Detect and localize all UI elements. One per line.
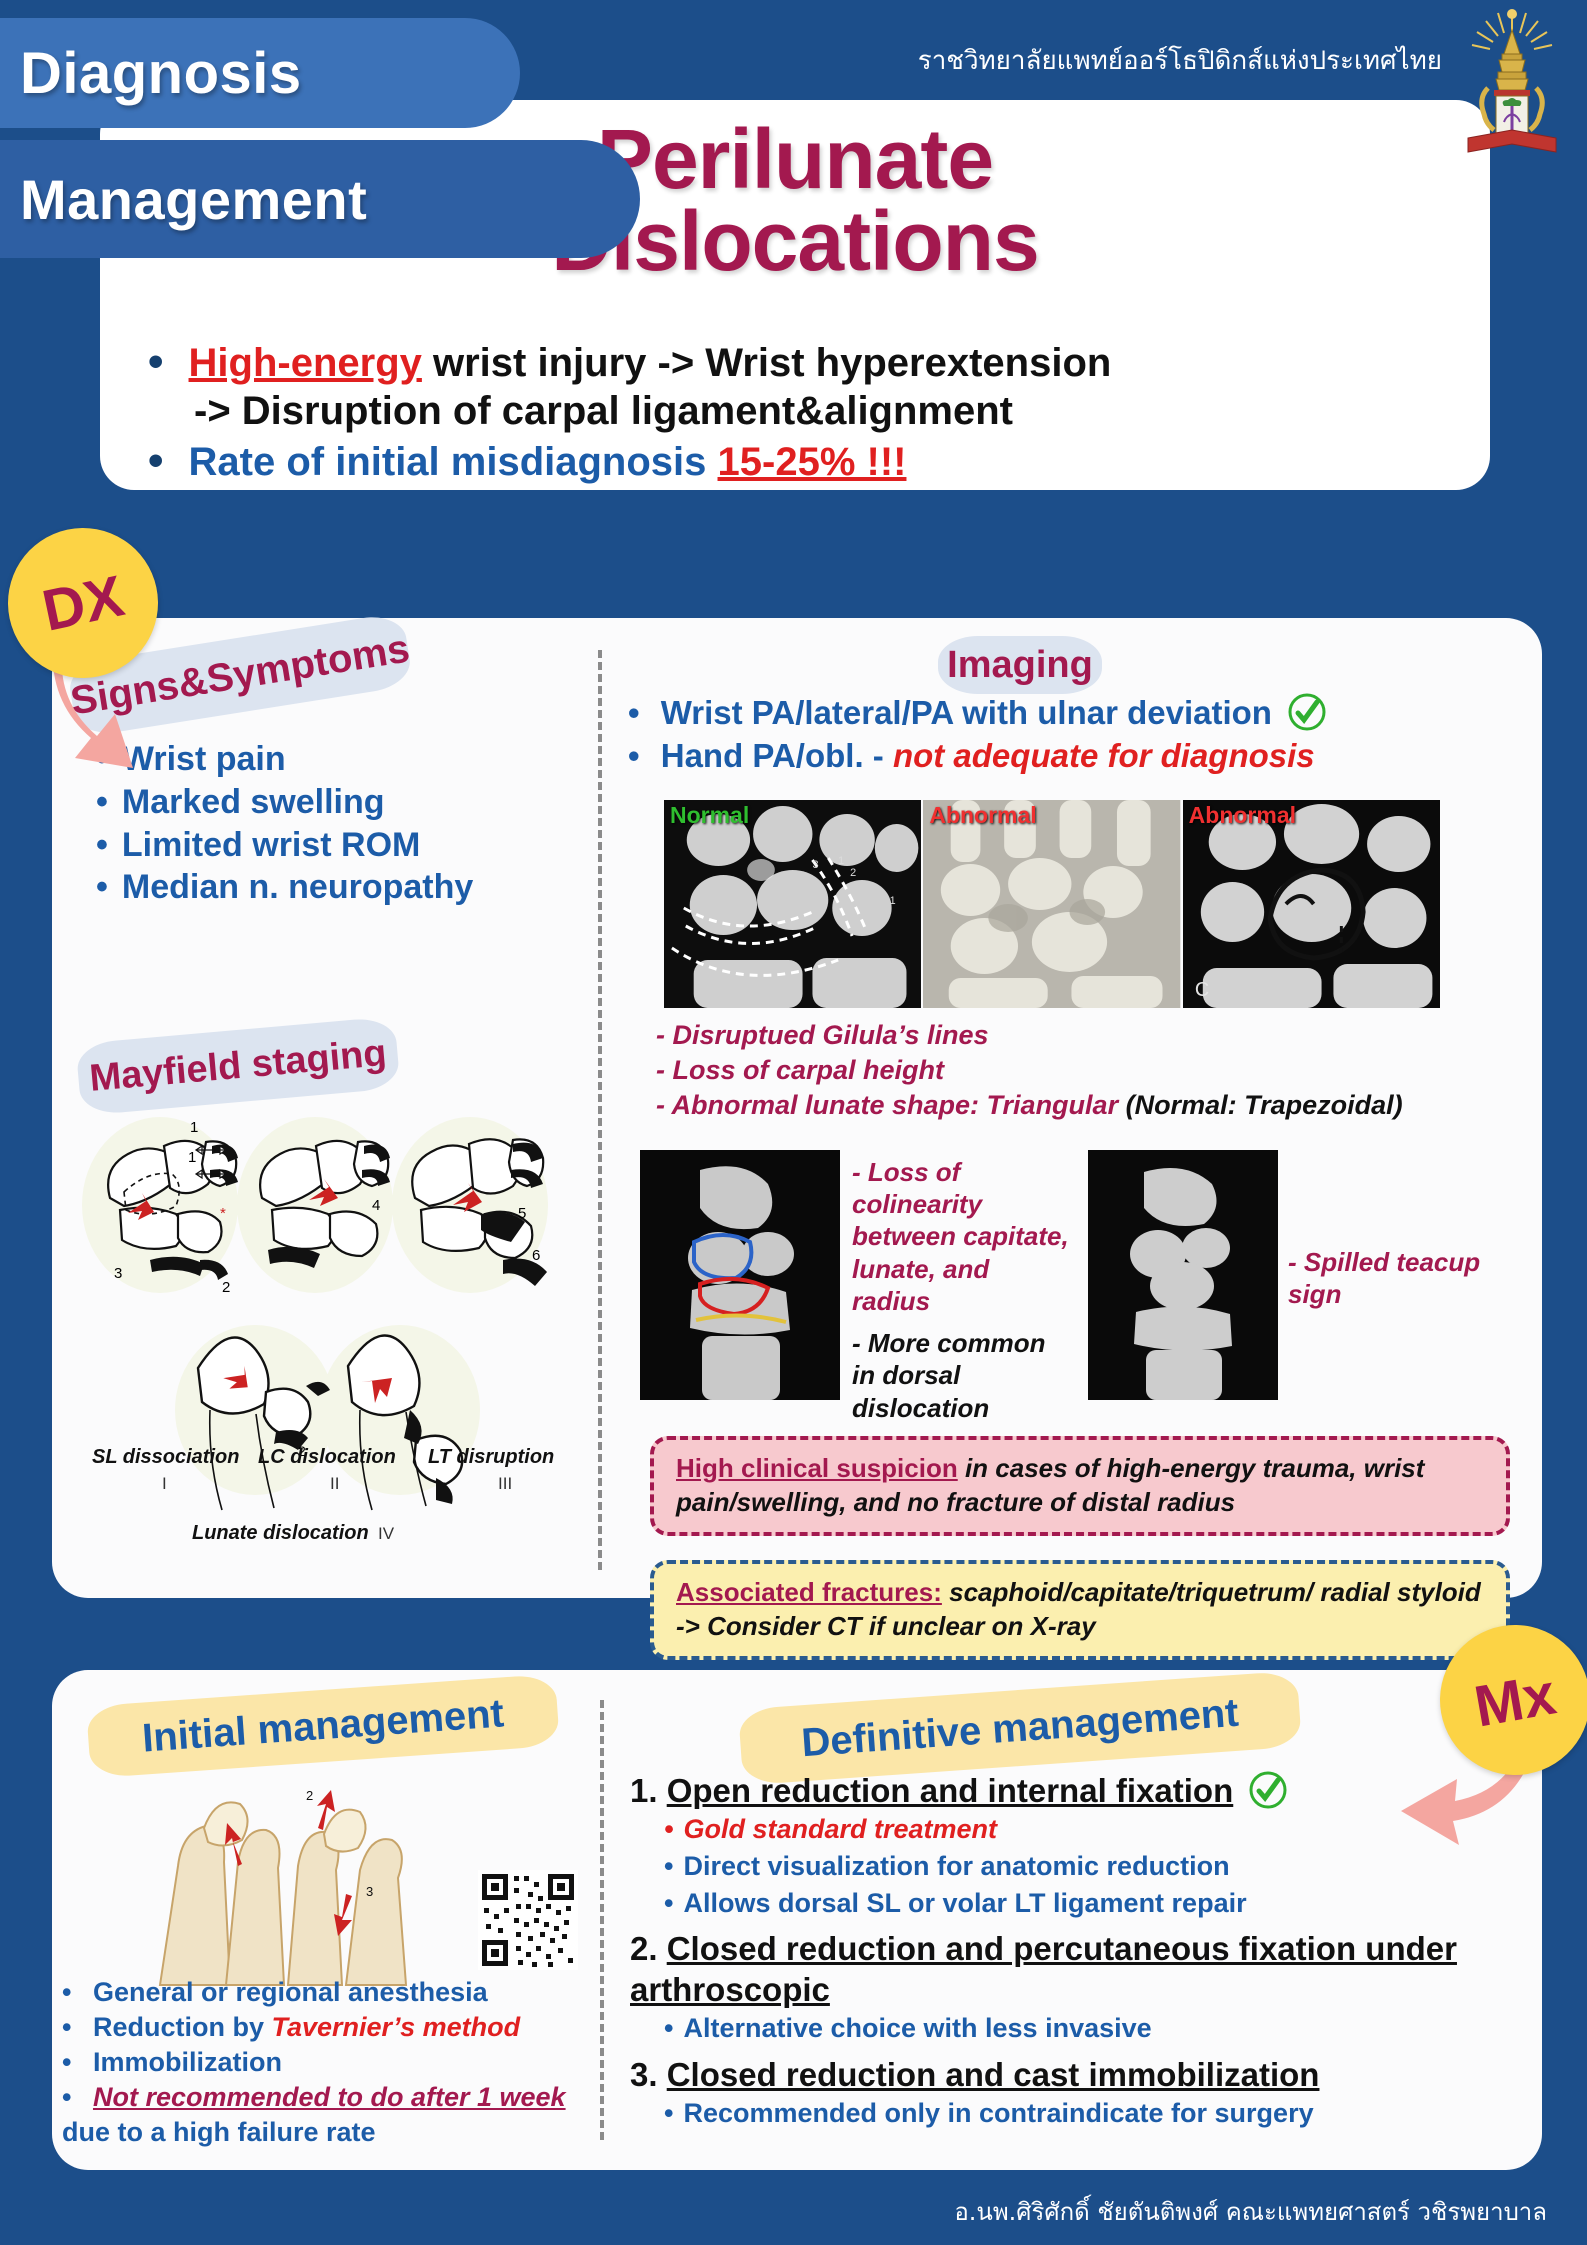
mayfield-stage-label-3: LT disruption: [428, 1446, 554, 1469]
svg-text:1: 1: [890, 895, 896, 907]
definitive-mx-item-3-title: Closed reduction and cast immobilization: [667, 2056, 1320, 2093]
callout-high-suspicion: High clinical suspicion in cases of high…: [650, 1436, 1510, 1536]
initial-management-heading-label: Initial management: [141, 1691, 506, 1761]
callout-associated-fractures: Associated fractures: scaphoid/capitate/…: [650, 1560, 1510, 1660]
imaging-finding-3-black: (Normal: Trapezoidal): [1126, 1090, 1403, 1120]
imaging-finding-3: - Abnormal lunate shape: Triangular (Nor…: [656, 1088, 1516, 1123]
lateral-finding-colinearity: - Loss of colinearity between capitate, …: [852, 1156, 1070, 1317]
xray-marker-c: C: [1195, 979, 1209, 1001]
svg-text:2: 2: [306, 1788, 313, 1803]
list-item: Alternative choice with less invasive: [664, 2010, 1510, 2047]
xray-image-abnormal-2: C Abnormal: [1183, 800, 1440, 1008]
check-circle-icon: [1287, 692, 1327, 732]
header-tab-management-label: Management: [20, 167, 367, 232]
callout-associated-fractures-key: Associated fractures:: [676, 1577, 942, 1607]
mayfield-stage-label-1: SL dissociation: [92, 1446, 239, 1469]
definitive-mx-item-1: 1. Open reduction and internal fixation: [630, 1770, 1510, 1811]
initial-management-list: General or regional anesthesia Reduction…: [62, 1975, 592, 2150]
lateral-xray-block: - Loss of colinearity between capitate, …: [640, 1150, 1440, 1400]
xray-image-spilled-teacup: [1088, 1150, 1278, 1400]
definitive-management-heading-label: Definitive management: [800, 1690, 1240, 1765]
svg-text:4: 4: [372, 1197, 380, 1214]
definitive-mx-item-2-subs: Alternative choice with less invasive: [664, 2010, 1510, 2047]
list-item: Immobilization: [62, 2045, 592, 2080]
mayfield-stage-roman-4: IV: [378, 1524, 394, 1544]
xray-image-lateral-annotated: [640, 1150, 840, 1400]
initial-mx-item-4-emph: Not recommended to do after 1 week: [93, 2082, 566, 2112]
callout-high-suspicion-text: High clinical suspicion in cases of high…: [676, 1452, 1484, 1520]
header-bullet-mechanism: High-energy wrist injury -> Wrist hypere…: [148, 336, 1454, 435]
svg-text:6: 6: [532, 1247, 540, 1264]
svg-text:3: 3: [366, 1884, 373, 1899]
poster-root: Diagnosis Management ราชวิทยาลัยแพทย์ออร…: [0, 0, 1587, 2245]
definitive-management-list: 1. Open reduction and internal fixation …: [630, 1770, 1510, 2132]
footer-credit: อ.นพ.ศิริศักดิ์ ชัยตันติพงศ์ คณะแพทยศาสต…: [954, 2192, 1547, 2231]
svg-text:2: 2: [222, 1279, 230, 1296]
definitive-mx-item-1-title: Open reduction and internal fixation: [667, 1772, 1234, 1809]
mx-panel-divider: [600, 1700, 604, 2140]
header-bullet-mechanism-sub: -> Disruption of carpal ligament&alignme…: [194, 388, 1454, 435]
organization-name: ราชวิทยาลัยแพทย์ออร์โธปิดิกส์แห่งประเทศไ…: [918, 40, 1442, 81]
imaging-bullet-wrist-views-text: Wrist PA/lateral/PA with ulnar deviation: [661, 694, 1272, 731]
imaging-heading-label: Imaging: [947, 644, 1093, 687]
svg-text:3: 3: [114, 1265, 122, 1282]
xray-tag-abnormal-2: Abnormal: [1189, 802, 1296, 829]
svg-text:1: 1: [188, 1149, 196, 1166]
tavernier-reduction-illustration: 2 3: [120, 1770, 450, 1990]
spilled-teacup-label: - Spilled teacup sign: [1288, 1246, 1498, 1310]
initial-mx-item-2-emph: Tavernier’s method: [271, 2012, 520, 2042]
lateral-findings-text: - Loss of colinearity between capitate, …: [852, 1156, 1070, 1424]
svg-text:1: 1: [838, 855, 844, 867]
mayfield-stage-label-2: LC dislocation: [258, 1446, 396, 1469]
svg-text:3: 3: [812, 859, 818, 871]
mayfield-stage-roman-2: II: [330, 1474, 339, 1494]
list-item: Allows dorsal SL or volar LT ligament re…: [664, 1885, 1510, 1922]
imaging-bullet-hand-views-emph: not adequate for diagnosis: [893, 737, 1315, 774]
definitive-mx-item-3: 3. Closed reduction and cast immobilizat…: [630, 2055, 1510, 2095]
header-bullet-misdiagnosis-text: Rate of initial misdiagnosis: [189, 440, 718, 484]
list-item: Gold standard treatment: [664, 1811, 1510, 1848]
lateral-finding-dorsal: - More common in dorsal dislocation: [852, 1327, 1070, 1424]
xray-image-abnormal-1: Abnormal: [923, 800, 1180, 1008]
list-item: General or regional anesthesia: [62, 1975, 592, 2010]
header-bullet-mechanism-rest: wrist injury -> Wrist hyperextension: [422, 341, 1111, 385]
header-tab-diagnosis-label: Diagnosis: [20, 40, 302, 107]
mayfield-stage-roman-3: III: [498, 1474, 512, 1494]
svg-text:*: *: [220, 1205, 226, 1222]
imaging-finding-3-red: - Abnormal lunate shape: Triangular: [656, 1090, 1126, 1120]
qr-code-icon[interactable]: [478, 1870, 578, 1970]
svg-text:5: 5: [518, 1205, 526, 1222]
header-key-points: High-energy wrist injury -> Wrist hypere…: [100, 330, 1490, 490]
definitive-mx-item-2: 2. Closed reduction and percutaneous fix…: [630, 1929, 1510, 2010]
mx-badge-label: Mx: [1469, 1660, 1560, 1740]
list-item: Median n. neuropathy: [96, 866, 473, 909]
xray-image-normal: 3 1 2 1 Normal: [664, 800, 921, 1008]
dx-badge-label: DX: [37, 562, 130, 644]
xray-tag-abnormal-1: Abnormal: [929, 802, 1036, 829]
header-tab-management: Management: [0, 140, 640, 258]
mayfield-stage-roman-1: I: [162, 1474, 167, 1494]
list-item: Reduction by Tavernier’s method: [62, 2010, 592, 2045]
mayfield-stage-label-4: Lunate dislocation: [192, 1522, 369, 1545]
xray-pa-image-row: 3 1 2 1 Normal: [664, 800, 1440, 1008]
imaging-heading: Imaging: [938, 636, 1102, 694]
definitive-mx-item-3-number: 3.: [630, 2056, 667, 2093]
imaging-finding-1: - Disruptued Gilula’s lines: [656, 1018, 1516, 1053]
definitive-mx-item-1-number: 1.: [630, 1772, 667, 1809]
dx-panel-divider: [598, 650, 602, 1570]
definitive-mx-item-3-subs: Recommended only in contraindicate for s…: [664, 2095, 1510, 2132]
list-item: Direct visualization for anatomic reduct…: [664, 1848, 1510, 1885]
definitive-mx-item-1-subs: Gold standard treatment Direct visualiza…: [664, 1811, 1510, 1921]
header-tab-diagnosis: Diagnosis: [0, 18, 520, 128]
xray-tag-normal: Normal: [670, 802, 749, 829]
callout-high-suspicion-key: High clinical suspicion: [676, 1453, 958, 1483]
imaging-findings-list: - Disruptued Gilula’s lines - Loss of ca…: [656, 1018, 1516, 1123]
initial-mx-item-2-text: Reduction by: [93, 2012, 272, 2042]
initial-mx-item-3-text: Immobilization: [93, 2047, 282, 2077]
imaging-bullet-hand-views: Hand PA/obl. - not adequate for diagnosi…: [628, 735, 1508, 778]
callout-associated-fractures-text: Associated fractures: scaphoid/capitate/…: [676, 1576, 1484, 1644]
mayfield-staging-heading-label: Mayfield staging: [88, 1032, 388, 1101]
list-item: Marked swelling: [96, 781, 473, 824]
imaging-finding-2: - Loss of carpal height: [656, 1053, 1516, 1088]
svg-text:1: 1: [190, 1119, 198, 1136]
page-title-line1: Perilunate: [597, 112, 993, 206]
svg-text:2: 2: [850, 867, 856, 879]
list-item: Limited wrist ROM: [96, 824, 473, 867]
imaging-bullet-wrist-views: Wrist PA/lateral/PA with ulnar deviation: [628, 692, 1508, 735]
definitive-mx-item-2-number: 2.: [630, 1930, 667, 1967]
header-bullet-misdiagnosis: Rate of initial misdiagnosis 15-25% !!!: [148, 435, 1454, 487]
imaging-bullet-list: Wrist PA/lateral/PA with ulnar deviation…: [628, 692, 1508, 778]
check-circle-icon: [1248, 1770, 1288, 1810]
list-item: Recommended only in contraindicate for s…: [664, 2095, 1510, 2132]
imaging-bullet-hand-views-prefix: Hand PA/obl. -: [661, 737, 893, 774]
definitive-mx-item-2-title: Closed reduction and percutaneous fixati…: [630, 1930, 1457, 2007]
header-bullet-mechanism-key: High-energy: [189, 341, 422, 385]
header-bullet-misdiagnosis-rate: 15-25% !!!: [718, 440, 907, 484]
initial-mx-item-4-tail: due to a high failure rate: [62, 2117, 376, 2147]
initial-mx-item-1-text: General or regional anesthesia: [93, 1977, 488, 2007]
list-item: Not recommended to do after 1 week due t…: [62, 2080, 592, 2150]
royal-college-logo: [1452, 2, 1572, 157]
